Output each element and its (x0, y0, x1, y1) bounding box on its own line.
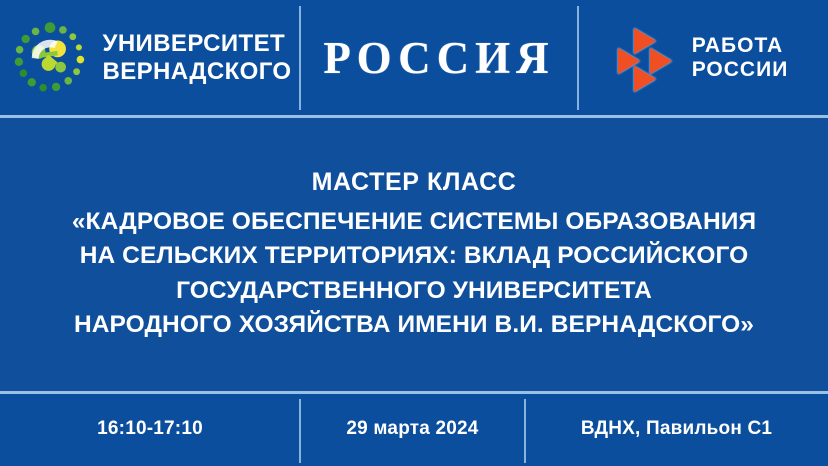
event-date: 29 марта 2024 (300, 391, 525, 466)
vernadsky-circle-logo-icon (12, 20, 88, 96)
rabota-rossii-lockup: РАБОТА РОССИИ (618, 28, 789, 88)
event-time: 16:10-17:10 (0, 391, 300, 466)
header-divider-2 (577, 6, 579, 110)
header-bottom-rule (0, 115, 828, 118)
footer-divider-2 (524, 399, 526, 463)
header-cell-university: УНИВЕРСИТЕТ ВЕРНАДСКОГО (0, 0, 300, 116)
event-banner: УНИВЕРСИТЕТ ВЕРНАДСКОГО РОССИЯ РАБОТА (0, 0, 828, 466)
university-name-line1: УНИВЕРСИТЕТ (102, 30, 285, 57)
russia-wordmark: РОССИЯ (323, 32, 554, 84)
event-title-line-1: «КАДРОВОЕ ОБЕСПЕЧЕНИЕ СИСТЕМЫ ОБРАЗОВАНИ… (72, 205, 756, 239)
header-cell-russia: РОССИЯ (300, 0, 578, 116)
event-details-footer: 16:10-17:10 29 марта 2024 ВДНХ, Павильон… (0, 391, 828, 466)
university-name: УНИВЕРСИТЕТ ВЕРНАДСКОГО (102, 30, 291, 86)
event-place: ВДНХ, Павильон С1 (525, 391, 828, 466)
vernadsky-logo-lockup: УНИВЕРСИТЕТ ВЕРНАДСКОГО (8, 20, 291, 96)
rabota-rossii-name: РАБОТА РОССИИ (692, 34, 789, 81)
header-cell-rabota-rossii: РАБОТА РОССИИ (578, 0, 828, 116)
event-title-line-2: НА СЕЛЬСКИХ ТЕРРИТОРИЯХ: ВКЛАД РОССИЙСКО… (72, 239, 756, 273)
university-name-line2: ВЕРНАДСКОГО (102, 58, 291, 86)
event-title-line-4: НАРОДНОГО ХОЗЯЙСТВА ИМЕНИ В.И. ВЕРНАДСКО… (72, 308, 756, 342)
logo-header: УНИВЕРСИТЕТ ВЕРНАДСКОГО РОССИЯ РАБОТА (0, 0, 828, 116)
rabota-name-line1: РАБОТА (692, 34, 783, 57)
rabota-name-line2: РОССИИ (692, 58, 789, 82)
event-type-label: МАСТЕР КЛАСС (312, 168, 517, 197)
event-title-line-3: ГОСУДАРСТВЕННОГО УНИВЕРСИТЕТА (72, 274, 756, 308)
footer-divider-1 (299, 399, 301, 463)
event-title: «КАДРОВОЕ ОБЕСПЕЧЕНИЕ СИСТЕМЫ ОБРАЗОВАНИ… (72, 205, 756, 342)
russia-wordmark-text: РОССИЯ (323, 32, 554, 84)
rabota-rossii-triangles-icon (618, 28, 680, 88)
main-title-area: МАСТЕР КЛАСС «КАДРОВОЕ ОБЕСПЕЧЕНИЕ СИСТЕ… (0, 119, 828, 391)
triangle-bottom-icon (634, 66, 656, 92)
header-divider-1 (299, 6, 301, 110)
